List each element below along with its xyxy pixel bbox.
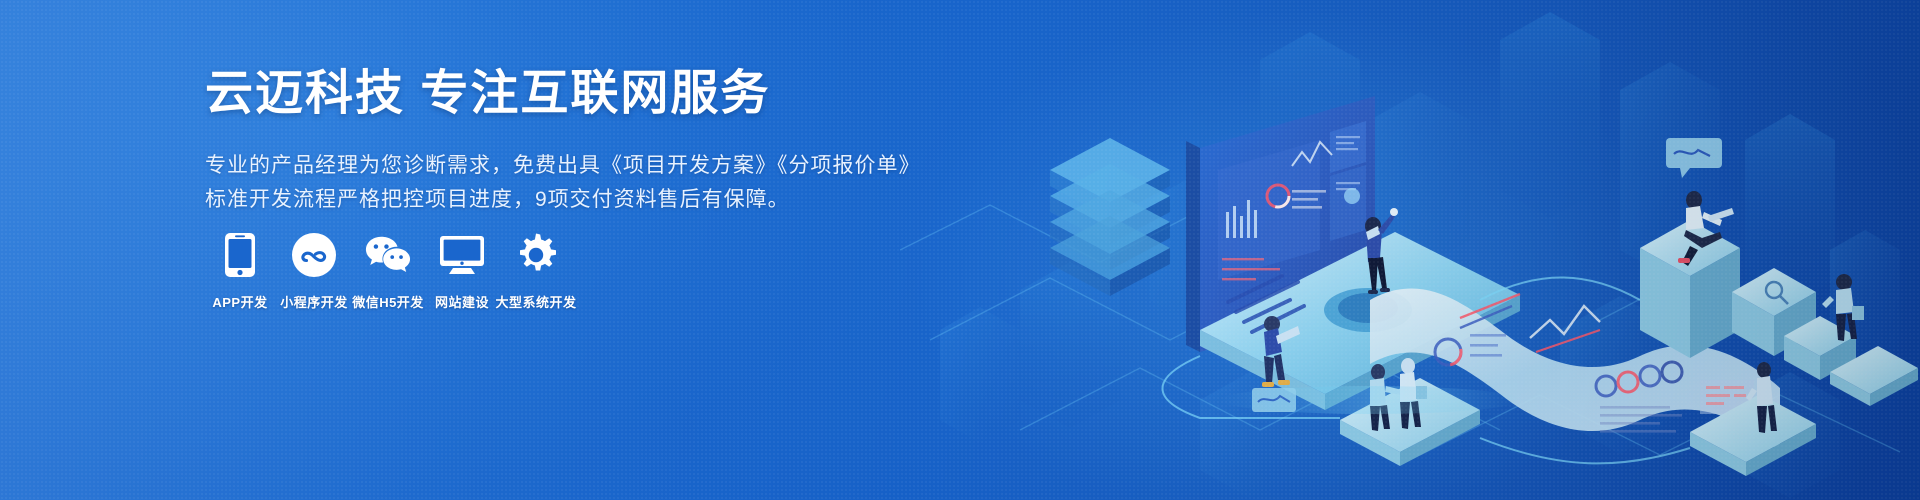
wechat-icon (365, 232, 411, 278)
service-label: 微信H5开发 (352, 292, 424, 311)
service-label: APP开发 (212, 292, 267, 311)
hero-banner: 云迈科技 专注互联网服务 专业的产品经理为您诊断需求，免费出具《项目开发方案》《… (0, 0, 1920, 500)
subtitle-line-1: 专业的产品经理为您诊断需求，免费出具《项目开发方案》《分项报价单》 (205, 149, 905, 183)
isometric-illustration (900, 0, 1920, 500)
banner-subtitle: 专业的产品经理为您诊断需求，免费出具《项目开发方案》《分项报价单》 标准开发流程… (205, 149, 905, 217)
service-item-wechat-h5[interactable]: 微信H5开发 (351, 232, 425, 311)
mobile-phone-icon (217, 232, 263, 278)
banner-headline: 云迈科技 专注互联网服务 (205, 66, 905, 123)
monitor-icon (439, 232, 485, 278)
server-stack (1050, 138, 1170, 296)
subtitle-line-2: 标准开发流程严格把控项目进度，9项交付资料售后有保障。 (205, 183, 905, 217)
service-item-website[interactable]: 网站建设 (425, 232, 499, 311)
service-list: APP开发 小程序开发 微信 (203, 232, 573, 311)
service-item-app[interactable]: APP开发 (203, 232, 277, 311)
service-label: 网站建设 (435, 292, 489, 311)
mini-program-icon (291, 232, 337, 278)
service-item-large-system[interactable]: 大型系统开发 (499, 232, 573, 311)
service-label: 小程序开发 (280, 292, 348, 311)
banner-copy: 云迈科技 专注互联网服务 专业的产品经理为您诊断需求，免费出具《项目开发方案》《… (205, 66, 905, 217)
gear-icon (513, 232, 559, 278)
service-label: 大型系统开发 (496, 292, 577, 311)
service-item-mini-program[interactable]: 小程序开发 (277, 232, 351, 311)
